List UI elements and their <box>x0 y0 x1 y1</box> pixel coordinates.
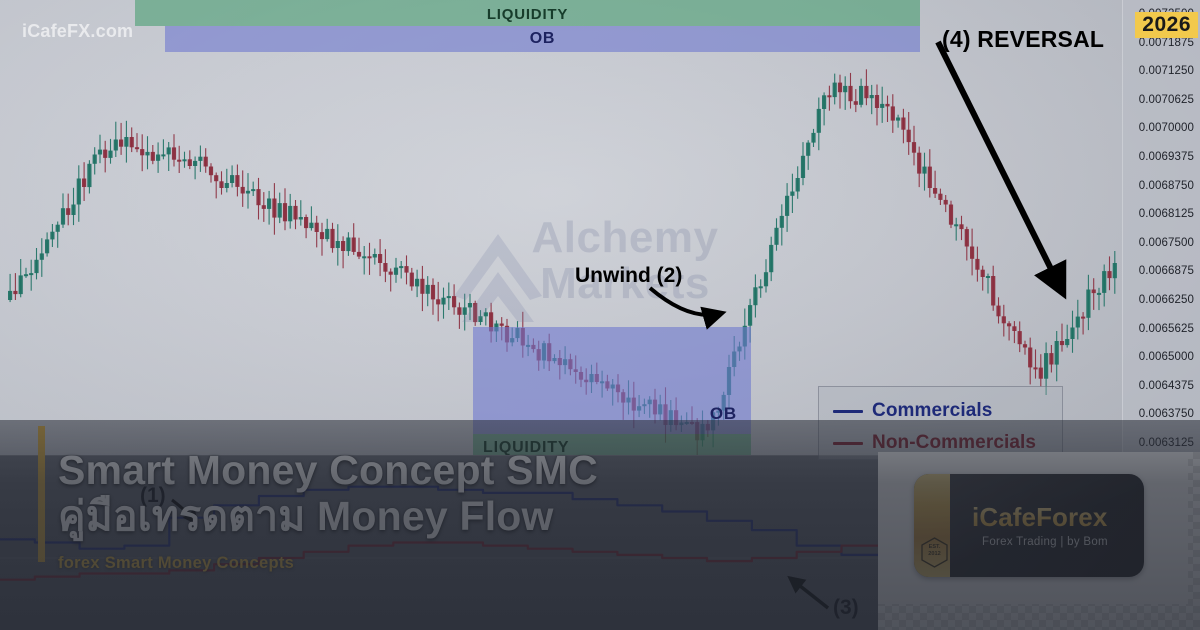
annotation-unwind: Unwind (2) <box>575 264 682 288</box>
est-seal-line-2: 2012 <box>921 551 948 558</box>
price-axis-tick: 0.0071875 <box>1139 37 1194 49</box>
price-axis-tick: 0.0066250 <box>1139 294 1194 306</box>
price-axis-tick: 0.0069375 <box>1139 151 1194 163</box>
page-subtitle: forex Smart Money Concepts <box>58 554 898 573</box>
price-axis[interactable]: 0.00725000.00718750.00712500.00706250.00… <box>1122 0 1200 460</box>
zone-label: OB <box>710 404 737 424</box>
price-axis-tick: 0.0063125 <box>1139 437 1194 449</box>
price-axis-tick: 0.0066875 <box>1139 265 1194 277</box>
zone-label: OB <box>530 30 556 48</box>
price-axis-tick: 0.0065000 <box>1139 351 1194 363</box>
price-axis-tick: 0.0070625 <box>1139 94 1194 106</box>
price-axis-tick: 0.0067500 <box>1139 237 1194 249</box>
zone-top-liquidity: LIQUIDITY <box>135 0 920 26</box>
brand-logo-card[interactable]: iCafeForex Forex Trading | by Bom EST. 2… <box>878 452 1200 630</box>
year-highlight-badge: 2026 <box>1135 12 1198 38</box>
price-axis-tick: 0.0071250 <box>1139 65 1194 77</box>
price-axis-tick: 0.0068125 <box>1139 208 1194 220</box>
legend-item-commercials: Commercials <box>833 395 1062 427</box>
logo-tagline: Forex Trading | by Bom <box>982 536 1108 548</box>
zone-label: LIQUIDITY <box>487 6 568 23</box>
logo-brand-name: iCafeForex <box>972 502 1107 533</box>
page-title-line-1: Smart Money Concept SMC <box>58 448 898 494</box>
logo-pill: iCafeForex Forex Trading | by Bom EST. 2… <box>914 474 1144 577</box>
price-axis-tick: 0.0065625 <box>1139 323 1194 335</box>
est-seal-label: EST. 2012 <box>921 544 948 558</box>
title-block: Smart Money Concept SMC คู่มือเทรดตาม Mo… <box>58 448 898 573</box>
price-axis-tick: 0.0063750 <box>1139 408 1194 420</box>
zone-bottom-order-block: OB <box>473 327 751 434</box>
est-seal-line-1: EST. <box>921 544 948 551</box>
price-axis-tick: 0.0070000 <box>1139 122 1194 134</box>
legend-label: Commercials <box>872 400 992 422</box>
watermark-icafefx: iCafeFX.com <box>22 21 133 42</box>
legend-swatch-icon <box>833 410 863 413</box>
title-accent-bar <box>38 426 45 562</box>
social-card-canvas: LIQUIDITY OB OB LIQUIDITY iCafeFX.com Al… <box>0 0 1200 630</box>
annotation-reversal: (4) REVERSAL <box>942 26 1104 53</box>
zone-top-order-block: OB <box>165 26 920 52</box>
legend-swatch-icon <box>833 442 863 445</box>
page-title-line-2: คู่มือเทรดตาม Money Flow <box>58 494 898 540</box>
alchemy-logo-mark-icon <box>438 228 558 328</box>
annotation-step-three: (3) <box>833 596 859 620</box>
price-axis-tick: 0.0064375 <box>1139 380 1194 392</box>
price-axis-tick: 0.0068750 <box>1139 180 1194 192</box>
